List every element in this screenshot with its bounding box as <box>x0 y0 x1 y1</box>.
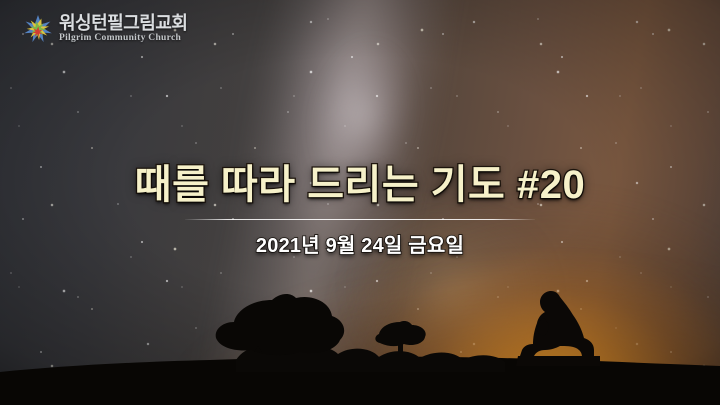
horizon-glow <box>331 146 720 397</box>
church-logo-text: 워싱턴필그림교회 Pilgrim Community Church <box>59 14 187 44</box>
church-name-english: Pilgrim Community Church <box>59 34 187 44</box>
church-name-korean: 워싱턴필그림교회 <box>59 14 187 32</box>
title-slide: 워싱턴필그림교회 Pilgrim Community Church 때를 따라 … <box>0 0 720 405</box>
church-logo[interactable]: 워싱턴필그림교회 Pilgrim Community Church <box>22 13 187 45</box>
star-burst-icon <box>22 13 54 45</box>
